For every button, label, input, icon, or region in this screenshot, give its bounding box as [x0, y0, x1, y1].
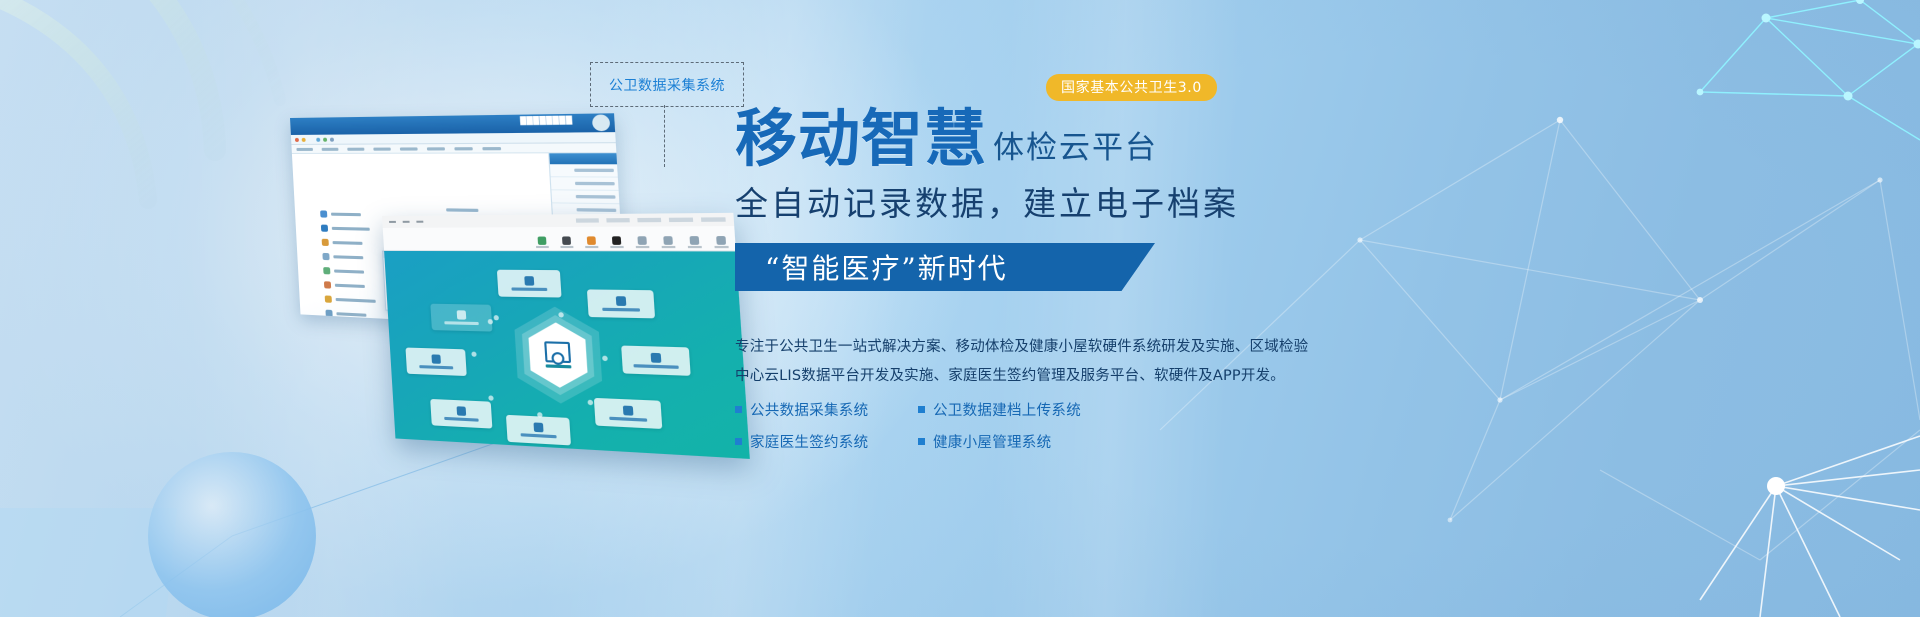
bullet-square-icon	[918, 406, 925, 413]
hub-center[interactable]	[506, 306, 610, 406]
toolbar-button[interactable]	[560, 236, 574, 248]
back-window-tree[interactable]	[320, 210, 377, 319]
window-maximize-icon[interactable]	[403, 221, 410, 223]
back-window-title: ████████	[520, 116, 573, 125]
front-window-toolbar[interactable]	[383, 226, 736, 251]
sidebar-item[interactable]	[551, 190, 619, 204]
toolbar-button[interactable]	[714, 236, 729, 248]
tab[interactable]	[669, 218, 693, 223]
tab[interactable]	[701, 217, 726, 222]
menu-item[interactable]	[482, 147, 501, 150]
ribbon-label: “智能医疗”新时代	[765, 247, 1008, 287]
headline-suffix: 体检云平台	[993, 122, 1158, 170]
toolbar-button[interactable]	[610, 236, 624, 248]
menu-item[interactable]	[400, 147, 418, 150]
bullet-square-icon	[735, 406, 742, 413]
sidebar-item[interactable]	[551, 177, 619, 191]
toolbar-button[interactable]	[661, 236, 675, 248]
toolbar-dot-grey	[330, 137, 334, 141]
list-item-label: 公共数据采集系统	[750, 399, 868, 420]
list-item-label: 健康小屋管理系统	[933, 431, 1051, 452]
hub-node[interactable]	[405, 348, 466, 376]
spoke-dot	[488, 395, 493, 400]
window-close-icon[interactable]	[416, 221, 423, 223]
toolbar-button[interactable]	[585, 236, 599, 248]
dna-helix-icon	[0, 0, 310, 280]
hub-node[interactable]	[497, 270, 562, 298]
toolbar-dot-red	[295, 137, 299, 141]
tree-item[interactable]	[323, 267, 374, 276]
bullet-square-icon	[735, 438, 742, 445]
bullet-square-icon	[918, 438, 925, 445]
spoke-dot	[537, 412, 543, 418]
hub-node[interactable]	[621, 346, 691, 376]
list-item-label: 家庭医生签约系统	[750, 431, 868, 452]
menu-item[interactable]	[454, 147, 472, 150]
front-window-tabs[interactable]	[576, 217, 726, 222]
list-item[interactable]: 家庭医生签约系统	[735, 431, 900, 452]
tab[interactable]	[576, 218, 599, 222]
back-window-titlebar: ████████	[290, 113, 615, 135]
headline-subline: 全自动记录数据，建立电子档案	[735, 177, 1855, 225]
window-minimize-icon[interactable]	[389, 221, 396, 223]
list-item[interactable]: 健康小屋管理系统	[918, 431, 1118, 452]
callout-label: 公卫数据采集系统	[609, 75, 725, 95]
tree-item[interactable]	[321, 225, 372, 233]
decorative-circle	[148, 452, 316, 617]
toolbar-dot-amber	[302, 137, 306, 141]
hub-node[interactable]	[430, 304, 492, 332]
callout-leader-line	[664, 105, 665, 167]
product-screenshots: ████████	[282, 118, 722, 448]
avatar	[592, 114, 611, 131]
list-item[interactable]: 公共数据采集系统	[735, 399, 900, 420]
front-window-canvas	[384, 251, 750, 459]
hub-core-label	[546, 365, 572, 369]
tree-item[interactable]	[325, 310, 376, 320]
tree-item[interactable]	[322, 239, 373, 248]
menu-item[interactable]	[347, 147, 364, 150]
description-text: 专注于公共卫生一站式解决方案、移动体检及健康小屋软硬件系统研发及实施、区域检验中…	[735, 333, 1315, 391]
menu-item[interactable]	[322, 147, 339, 150]
toolbar-button[interactable]	[535, 237, 548, 249]
menu-item[interactable]	[373, 147, 390, 150]
tab[interactable]	[606, 218, 629, 222]
menu-item[interactable]	[296, 147, 313, 150]
page-title: 移动智慧	[735, 108, 987, 170]
tree-item[interactable]	[320, 210, 371, 218]
banner-copy: 移动智慧 体检云平台 国家基本公共卫生3.0 全自动记录数据，建立电子档案 “智…	[735, 108, 1855, 452]
spoke-dot	[471, 352, 476, 357]
toolbar-button[interactable]	[635, 236, 649, 248]
spoke-dot	[488, 319, 493, 324]
tab[interactable]	[637, 218, 661, 222]
toolbar-dot-blue	[316, 137, 320, 141]
toolbar-button[interactable]	[687, 236, 702, 248]
spoke-dot	[494, 315, 499, 320]
list-item-label: 公卫数据建档上传系统	[933, 399, 1081, 420]
hub-node[interactable]	[430, 399, 492, 429]
tree-item[interactable]	[325, 295, 376, 305]
toolbar-dot-green	[323, 137, 327, 141]
headline-row: 移动智慧 体检云平台 国家基本公共卫生3.0	[735, 108, 1855, 170]
callout-box: 公卫数据采集系统	[590, 62, 744, 107]
sidebar-header	[549, 153, 617, 164]
banner-stage: ████████	[0, 0, 1920, 617]
sidebar-item[interactable]	[550, 164, 618, 177]
magnifier-document-icon	[544, 342, 571, 364]
hub-node[interactable]	[506, 415, 571, 446]
status-badge: 国家基本公共卫生3.0	[1046, 74, 1217, 101]
feature-list: 公共数据采集系统 公卫数据建档上传系统 家庭医生签约系统 健康小屋管理系统	[735, 399, 1855, 452]
screenshot-front-window	[382, 213, 750, 459]
tree-item[interactable]	[322, 253, 373, 262]
tree-item[interactable]	[324, 281, 375, 290]
ribbon-banner: “智能医疗”新时代	[735, 243, 1155, 291]
menu-item[interactable]	[427, 147, 445, 150]
list-item[interactable]: 公卫数据建档上传系统	[918, 399, 1118, 420]
